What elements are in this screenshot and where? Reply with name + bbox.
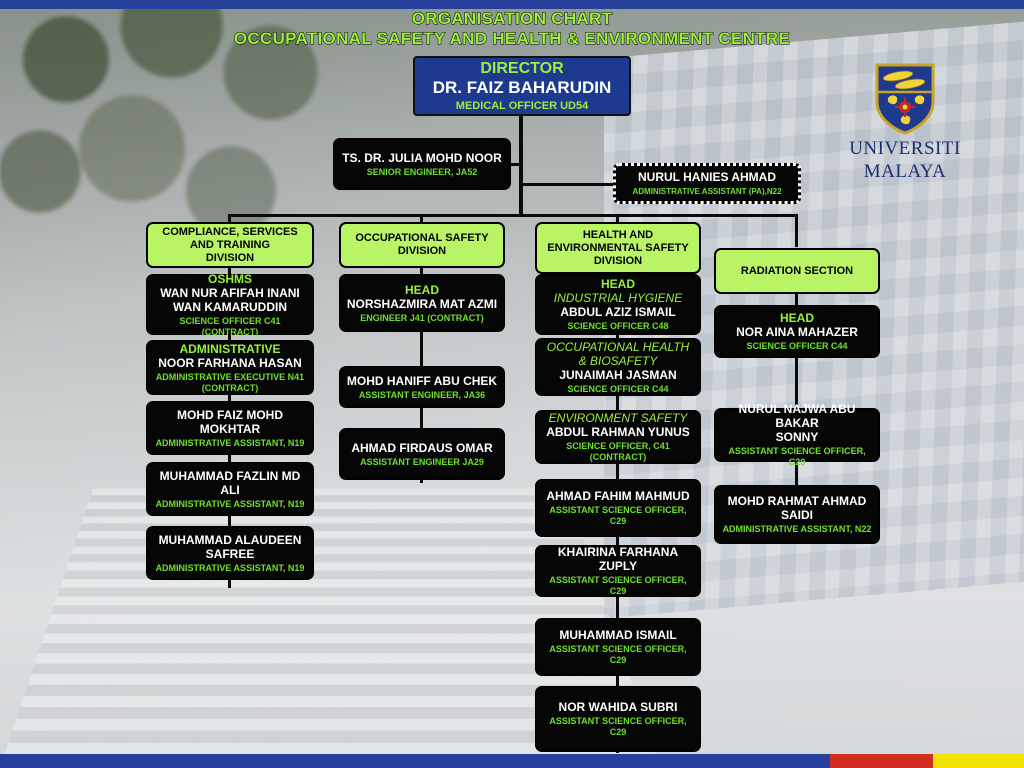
staff-box[interactable]: ADMINISTRATIVE NOOR FARHANA HASAN ADMINI… (146, 340, 314, 395)
division-header-radiation[interactable]: RADIATION SECTION (714, 248, 880, 294)
assistant-box[interactable]: NURUL HANIES AHMAD ADMINISTRATIVE ASSIST… (613, 163, 801, 204)
staff-title: SCIENCE OFFICER, C41 (CONTRACT) (542, 441, 694, 463)
staff-name: NOR WAHIDA SUBRI (559, 700, 678, 714)
university-logo: UNIVERSITI MALAYA (845, 62, 965, 182)
staff-title: SCIENCE OFFICER C44 (567, 384, 668, 395)
staff-name: MUHAMMAD FAZLIN MD (160, 469, 301, 483)
staff-box[interactable]: AHMAD FAHIM MAHMUD ASSISTANT SCIENCE OFF… (535, 479, 701, 537)
staff-name: AHMAD FAHIM MAHMUD (546, 489, 689, 503)
deputy-box[interactable]: TS. DR. JULIA MOHD NOOR SENIOR ENGINEER,… (333, 138, 511, 190)
bottom-accent-bar (0, 754, 1024, 768)
staff-role: HEAD (405, 283, 439, 297)
staff-box[interactable]: HEAD INDUSTRIAL HYGIENE ABDUL AZIZ ISMAI… (535, 274, 701, 335)
staff-box[interactable]: ENVIRONMENT SAFETY ABDUL RAHMAN YUNUS SC… (535, 410, 701, 464)
staff-box[interactable]: HEAD NORSHAZMIRA MAT AZMI ENGINEER J41 (… (339, 274, 505, 332)
staff-name: NURUL NAJWA ABU BAKAR (721, 402, 873, 430)
staff-name: ABDUL RAHMAN YUNUS (546, 425, 690, 439)
staff-box[interactable]: NURUL NAJWA ABU BAKAR SONNY ASSISTANT SC… (714, 408, 880, 462)
division-label-line: COMPLIANCE, SERVICES (162, 226, 298, 239)
staff-name: MOHD RAHMAT AHMAD (728, 494, 867, 508)
staff-name: AHMAD FIRDAUS OMAR (351, 441, 492, 455)
staff-subrole: ENVIRONMENT SAFETY (549, 411, 688, 425)
staff-subrole: OCCUPATIONAL HEALTH & BIOSAFETY (542, 340, 694, 368)
staff-name: SAIDI (781, 508, 813, 522)
staff-title: SCIENCE OFFICER C48 (567, 321, 668, 332)
division-label-line: RADIATION SECTION (741, 265, 853, 278)
page-subtitle: OCCUPATIONAL SAFETY AND HEALTH & ENVIRON… (0, 29, 1024, 49)
staff-name: SAFREE (206, 547, 255, 561)
director-role: DIRECTOR (480, 60, 563, 78)
staff-box[interactable]: MOHD FAIZ MOHD MOKHTAR ADMINISTRATIVE AS… (146, 401, 314, 455)
staff-title: ADMINISTRATIVE ASSISTANT, N19 (156, 499, 305, 510)
staff-title: SCIENCE OFFICER C44 (746, 341, 847, 352)
staff-title: ADMINISTRATIVE ASSISTANT, N19 (156, 563, 305, 574)
staff-title: ASSISTANT SCIENCE OFFICER, C29 (542, 644, 694, 666)
staff-title: ADMINISTRATIVE ASSISTANT, N19 (156, 438, 305, 449)
top-accent-bar (0, 0, 1024, 9)
staff-box[interactable]: KHAIRINA FARHANA ZUPLY ASSISTANT SCIENCE… (535, 545, 701, 597)
um-name-line1: UNIVERSITI (845, 138, 965, 159)
division-label-line: DIVISION (594, 255, 642, 268)
staff-box[interactable]: MOHD HANIFF ABU CHEK ASSISTANT ENGINEER,… (339, 366, 505, 408)
director-title: MEDICAL OFFICER UD54 (456, 100, 588, 113)
staff-title: ASSISTANT ENGINEER JA29 (360, 457, 484, 468)
staff-name: NOR AINA MAHAZER (736, 325, 858, 339)
staff-name: MUHAMMAD ISMAIL (559, 628, 676, 642)
um-crest-icon (845, 62, 965, 136)
staff-title: SCIENCE OFFICER C41 (CONTRACT) (153, 316, 307, 338)
division-header-compliance[interactable]: COMPLIANCE, SERVICES AND TRAINING DIVISI… (146, 222, 314, 268)
bottom-bar-blue (0, 754, 830, 768)
chart-header: ORGANISATION CHART OCCUPATIONAL SAFETY A… (0, 9, 1024, 49)
staff-box[interactable]: OCCUPATIONAL HEALTH & BIOSAFETY JUNAIMAH… (535, 338, 701, 396)
director-name: DR. FAIZ BAHARUDIN (433, 78, 612, 98)
staff-name: MOKHTAR (200, 422, 260, 436)
page-title: ORGANISATION CHART (0, 9, 1024, 29)
division-header-health-environmental-safety[interactable]: HEALTH AND ENVIRONMENTAL SAFETY DIVISION (535, 222, 701, 274)
staff-name: WAN NUR AFIFAH INANI (160, 286, 300, 300)
staff-title: ASSISTANT SCIENCE OFFICER, C29 (721, 446, 873, 468)
staff-box[interactable]: OSHMS WAN NUR AFIFAH INANI WAN KAMARUDDI… (146, 274, 314, 335)
staff-box[interactable]: NOR WAHIDA SUBRI ASSISTANT SCIENCE OFFIC… (535, 686, 701, 752)
staff-box[interactable]: MUHAMMAD ALAUDEEN SAFREE ADMINISTRATIVE … (146, 526, 314, 580)
staff-box[interactable]: MUHAMMAD ISMAIL ASSISTANT SCIENCE OFFICE… (535, 618, 701, 676)
staff-title: ENGINEER J41 (CONTRACT) (360, 313, 484, 324)
assistant-title: ADMINISTRATIVE ASSISTANT (PA),N22 (632, 186, 781, 197)
staff-name: ALI (220, 483, 239, 497)
bottom-bar-red (830, 754, 933, 768)
staff-subrole: INDUSTRIAL HYGIENE (554, 291, 682, 305)
staff-name: NORSHAZMIRA MAT AZMI (347, 297, 497, 311)
staff-box[interactable]: HEAD NOR AINA MAHAZER SCIENCE OFFICER C4… (714, 305, 880, 358)
division-label-line: AND TRAINING (190, 239, 270, 252)
staff-name: WAN KAMARUDDIN (173, 300, 287, 314)
staff-role: OSHMS (208, 272, 252, 286)
staff-name: NOOR FARHANA HASAN (158, 356, 302, 370)
division-label-line: HEALTH AND (583, 229, 653, 242)
staff-box[interactable]: MOHD RAHMAT AHMAD SAIDI ADMINISTRATIVE A… (714, 485, 880, 544)
staff-name: ABDUL AZIZ ISMAIL (560, 305, 675, 319)
deputy-name: TS. DR. JULIA MOHD NOOR (342, 151, 502, 165)
um-name-line2: MALAYA (845, 161, 965, 182)
staff-name: KHAIRINA FARHANA ZUPLY (542, 545, 694, 573)
staff-title: ASSISTANT ENGINEER, JA36 (359, 390, 485, 401)
staff-box[interactable]: AHMAD FIRDAUS OMAR ASSISTANT ENGINEER JA… (339, 428, 505, 480)
staff-role: HEAD (601, 277, 635, 291)
deputy-title: SENIOR ENGINEER, JA52 (367, 167, 478, 178)
staff-name: MOHD HANIFF ABU CHEK (347, 374, 497, 388)
staff-name: MOHD FAIZ MOHD (177, 408, 283, 422)
division-header-occupational-safety[interactable]: OCCUPATIONAL SAFETY DIVISION (339, 222, 505, 268)
staff-title: ADMINISTRATIVE EXECUTIVE N41 (CONTRACT) (153, 372, 307, 394)
staff-name: MUHAMMAD ALAUDEEN (159, 533, 302, 547)
staff-name: SONNY (776, 430, 819, 444)
staff-title: ASSISTANT SCIENCE OFFICER, C29 (542, 505, 694, 527)
staff-role: ADMINISTRATIVE (179, 342, 280, 356)
division-label-line: DIVISION (206, 252, 254, 265)
director-box[interactable]: DIRECTOR DR. FAIZ BAHARUDIN MEDICAL OFFI… (413, 56, 631, 116)
assistant-name: NURUL HANIES AHMAD (638, 170, 776, 184)
bottom-bar-yellow (933, 754, 1024, 768)
division-label-line: DIVISION (398, 245, 446, 258)
staff-title: ADMINISTRATIVE ASSISTANT, N22 (723, 524, 872, 535)
division-label-line: ENVIRONMENTAL SAFETY (547, 242, 688, 255)
staff-box[interactable]: MUHAMMAD FAZLIN MD ALI ADMINISTRATIVE AS… (146, 462, 314, 516)
staff-role: HEAD (780, 311, 814, 325)
staff-name: JUNAIMAH JASMAN (559, 368, 676, 382)
division-label-line: OCCUPATIONAL SAFETY (355, 232, 488, 245)
staff-title: ASSISTANT SCIENCE OFFICER, C29 (542, 716, 694, 738)
staff-title: ASSISTANT SCIENCE OFFICER, C29 (542, 575, 694, 597)
